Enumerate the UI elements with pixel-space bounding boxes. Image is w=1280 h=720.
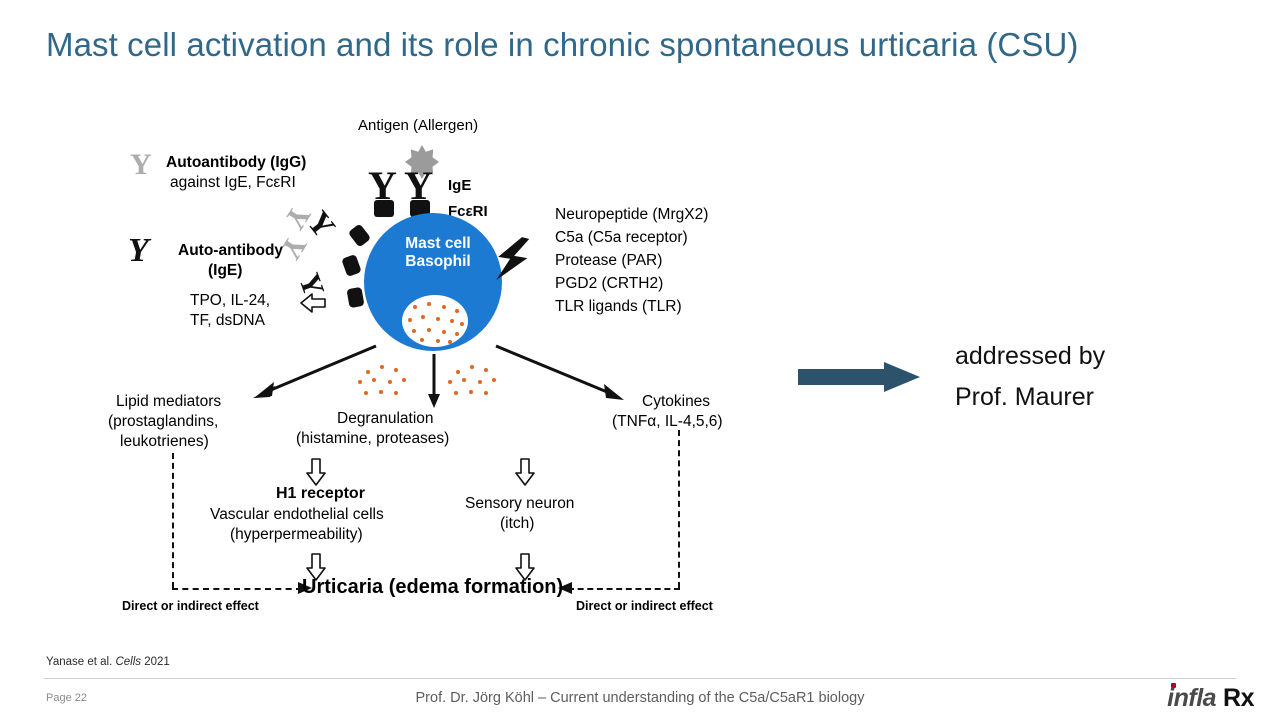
urticaria-outcome: Urticaria (edema formation) <box>302 576 563 598</box>
granule-dot <box>413 305 417 309</box>
effect-label-left: Direct or indirect effect <box>122 599 259 613</box>
released-granule <box>366 370 370 374</box>
cytokines-line2: (TNFα, IL-4,5,6) <box>612 413 723 430</box>
sensory-neuron-line2: (itch) <box>500 515 534 532</box>
h1-receptor-line1: Vascular endothelial cells <box>210 506 384 523</box>
granule-dot <box>436 317 440 321</box>
released-granule <box>484 368 488 372</box>
dashed-connector-right-horizontal <box>568 588 680 590</box>
h1-receptor-title: H1 receptor <box>276 485 365 503</box>
released-granule <box>448 380 452 384</box>
lipid-mediators-line2: (prostaglandins, <box>108 413 218 430</box>
released-granule <box>454 391 458 395</box>
granule-dot <box>421 315 425 319</box>
released-granule <box>484 391 488 395</box>
page-title: Mast cell activation and its role in chr… <box>46 26 1226 64</box>
autoantibody-ige-symbol: Y <box>128 234 149 268</box>
neuron-down-arrow-icon <box>515 458 535 486</box>
released-granule <box>478 380 482 384</box>
lipid-mediators-line1: Lipid mediators <box>116 393 221 410</box>
slide-canvas: Mast cell activation and its role in chr… <box>0 0 1280 720</box>
cytokine-branch-arrow-icon <box>492 342 632 406</box>
granule-dot <box>427 302 431 306</box>
mediator-item-4: TLR ligands (TLR) <box>555 298 682 315</box>
effect-label-right: Direct or indirect effect <box>576 599 713 613</box>
citation-year: 2021 <box>144 656 170 668</box>
degranulation-branch-arrow-icon <box>426 354 442 410</box>
callout-text: addressed by Prof. Maurer <box>955 336 1105 417</box>
dashed-connector-left-horizontal <box>172 588 302 590</box>
degranulation-line2: (histamine, proteases) <box>296 430 449 447</box>
membrane-receptor-icon-3 <box>346 287 364 308</box>
membrane-receptor-icon-2 <box>341 254 362 277</box>
dashed-connector-right-vertical <box>678 430 680 588</box>
lipid-mediators-line3: leukotrienes) <box>120 433 209 450</box>
mediator-item-2: Protease (PAR) <box>555 252 662 269</box>
ligand-binding-arrow-icon <box>300 292 326 314</box>
footer-title: Prof. Dr. Jörg Köhl – Current understand… <box>0 690 1280 706</box>
released-granule <box>380 365 384 369</box>
granule-dot <box>442 305 446 309</box>
released-granule <box>358 380 362 384</box>
mast-cell-diagram: Antigen (Allergen) Y Y IgE FcεRI Mast ce… <box>100 110 780 620</box>
released-granule <box>372 378 376 382</box>
granule-dot <box>427 328 431 332</box>
autoantibody-igg-symbol: Y <box>130 150 152 180</box>
granule-dot <box>420 338 424 342</box>
mast-cell-nucleus <box>402 295 468 347</box>
autoantibody-igg-title: Autoantibody (IgG) <box>166 154 306 171</box>
citation-journal: Cells <box>115 656 141 668</box>
autoantibody-ige-title: Auto-antibody <box>178 242 283 259</box>
released-granule <box>394 368 398 372</box>
dashed-connector-left-vertical <box>172 453 174 588</box>
citation: Yanase et al. Cells 2021 <box>46 656 170 668</box>
footer-divider <box>44 678 1236 679</box>
ige-label: IgE <box>448 178 471 195</box>
granule-dot <box>455 309 459 313</box>
ligands-line1: TPO, IL-24, <box>190 292 270 309</box>
lipid-branch-arrow-icon <box>248 342 378 402</box>
inflarx-logo: infla Rx <box>1167 686 1254 711</box>
granule-dot <box>448 340 452 344</box>
h1-receptor-line2: (hyperpermeability) <box>230 526 363 543</box>
granule-dot <box>436 339 440 343</box>
mediator-item-1: C5a (C5a receptor) <box>555 229 688 246</box>
released-granule <box>364 391 368 395</box>
granule-dot <box>455 332 459 336</box>
released-granule <box>469 390 473 394</box>
released-granule <box>470 365 474 369</box>
logo-accent-dot <box>1171 683 1176 688</box>
logo-text-infla: infla <box>1167 684 1216 712</box>
released-granule <box>394 391 398 395</box>
degranulation-line1: Degranulation <box>337 410 434 427</box>
fceri-receptor-icon-1 <box>374 200 394 217</box>
membrane-receptor-icon-1 <box>348 223 372 247</box>
granule-dot <box>412 329 416 333</box>
released-granule <box>456 370 460 374</box>
released-granule <box>462 378 466 382</box>
mast-cell-label: Mast cell Basophil <box>383 235 493 271</box>
ligands-line2: TF, dsDNA <box>190 312 265 329</box>
mediator-item-3: PGD2 (CRTH2) <box>555 275 663 292</box>
mediator-item-0: Neuropeptide (MrgX2) <box>555 206 708 223</box>
mast-cell-line2: Basophil <box>405 253 470 270</box>
antigen-label: Antigen (Allergen) <box>358 118 478 135</box>
callout-line1: addressed by <box>955 336 1105 377</box>
sensory-neuron-line1: Sensory neuron <box>465 495 574 512</box>
granule-dot <box>442 330 446 334</box>
granule-dot <box>450 319 454 323</box>
granule-dot <box>408 318 412 322</box>
citation-authors: Yanase et al. <box>46 656 112 668</box>
h1-down-arrow-icon <box>306 458 326 486</box>
mast-cell-line1: Mast cell <box>405 235 470 252</box>
released-granule <box>379 390 383 394</box>
released-granule <box>388 380 392 384</box>
cytokines-line1: Cytokines <box>642 393 710 410</box>
callout-arrow-icon <box>798 362 920 392</box>
released-granule <box>402 378 406 382</box>
logo-text-rx: Rx <box>1223 684 1254 712</box>
autoantibody-igg-subtitle: against IgE, FcεRI <box>170 174 296 191</box>
granule-dot <box>460 322 464 326</box>
callout-line2: Prof. Maurer <box>955 377 1105 418</box>
autoantibody-ige-subtitle: (IgE) <box>208 262 242 279</box>
released-granule <box>492 378 496 382</box>
